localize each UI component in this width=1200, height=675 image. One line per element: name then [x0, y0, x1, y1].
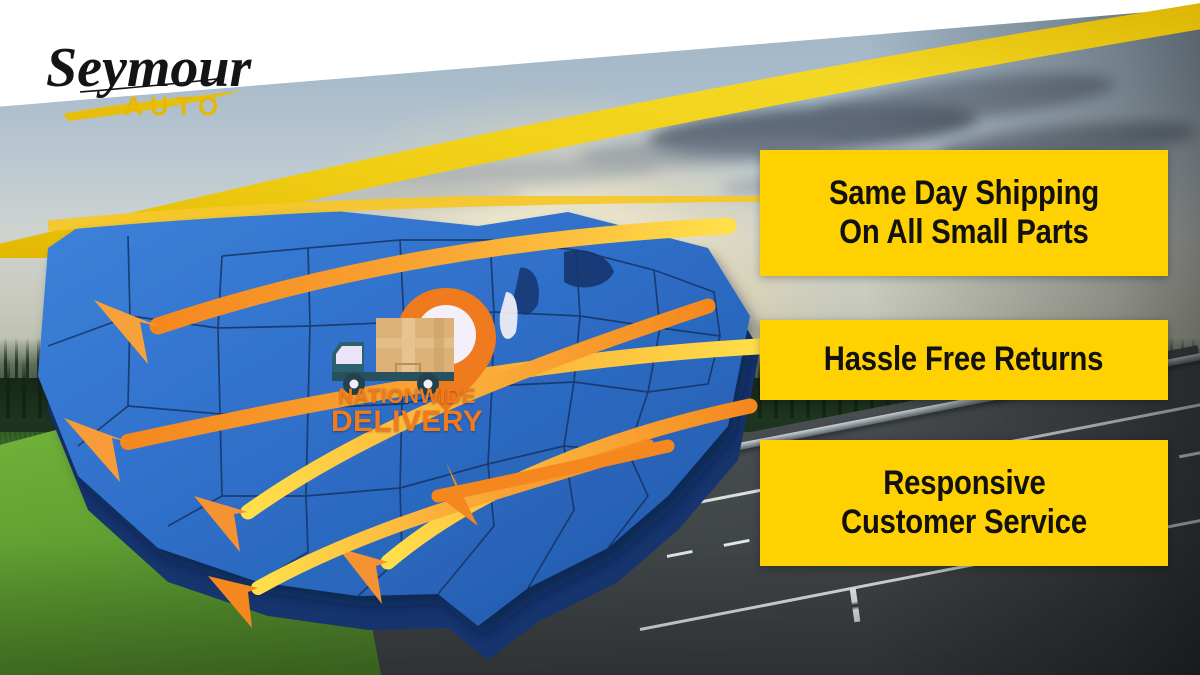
logo-script-name: Seymour: [46, 37, 253, 99]
marketing-banner: Seymour AUTO: [0, 0, 1200, 675]
feature-panel-same-day-shipping[interactable]: Same Day Shipping On All Small Parts: [760, 150, 1168, 276]
feature-panel-hassle-free-returns[interactable]: Hassle Free Returns: [760, 320, 1168, 400]
logo-subtitle: AUTO: [124, 91, 225, 121]
panel-1-line-1: Same Day Shipping: [829, 174, 1099, 213]
panel-3-line-1: Responsive: [883, 464, 1045, 503]
nationwide-delivery-caption: NATIONWIDE DELIVERY: [322, 386, 492, 437]
cloud: [479, 111, 660, 146]
panel-2-line-1: Hassle Free Returns: [824, 340, 1104, 379]
panel-1-line-2: On All Small Parts: [839, 213, 1088, 252]
panel-3-line-2: Customer Service: [841, 503, 1087, 542]
nd-line-2: DELIVERY: [331, 405, 483, 438]
seymour-auto-logo[interactable]: Seymour AUTO: [28, 18, 278, 128]
delivery-truck-icon: [332, 318, 454, 395]
feature-panel-responsive-customer-service[interactable]: Responsive Customer Service: [760, 440, 1168, 566]
